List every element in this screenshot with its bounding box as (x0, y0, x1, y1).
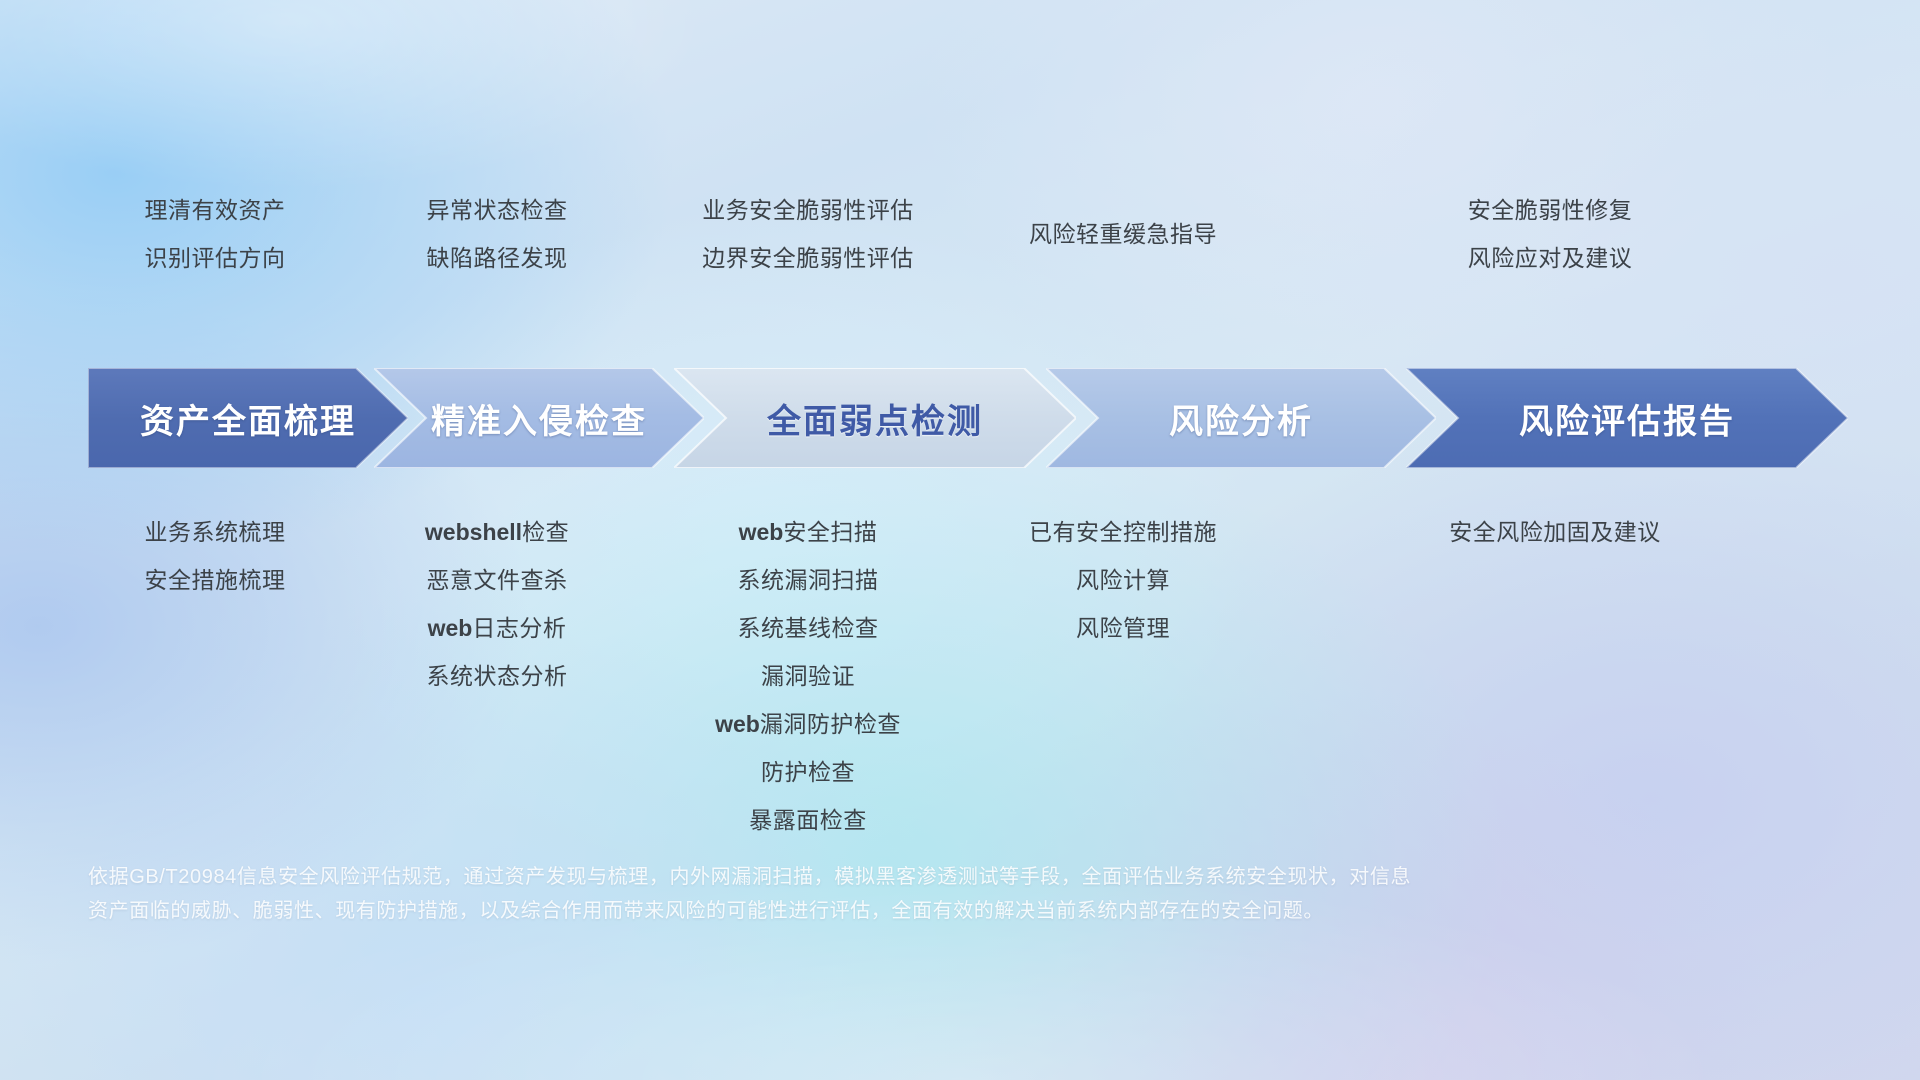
footer-line-1: 依据GB/T20984信息安全风险评估规范，通过资产发现与梳理，内外网漏洞扫描，… (88, 860, 1788, 894)
stage-4-activity-2: 风险计算 (938, 556, 1308, 604)
stage-5-outputs: 安全脆弱性修复 风险应对及建议 (1375, 186, 1725, 282)
process-ribbon: 资产全面梳理 精准入侵检查 (88, 368, 1848, 468)
stage-4-outputs: 风险轻重缓急指导 (938, 210, 1308, 258)
footer-line-2: 资产面临的威胁、脆弱性、现有防护措施，以及综合作用而带来风险的可能性进行评估，全… (88, 894, 1788, 928)
stage-3-activity-5: web漏洞防护检查 (608, 700, 1008, 748)
chevron-stage-3[interactable]: 全面弱点检测 (674, 368, 1076, 468)
stage-5-output-1: 安全脆弱性修复 (1375, 186, 1725, 234)
chevron-stage-1[interactable]: 资产全面梳理 (88, 368, 408, 468)
chevron-label-5: 风险评估报告 (1406, 394, 1848, 443)
chevron-label-3: 全面弱点检测 (674, 394, 1076, 443)
stage-5-output-2: 风险应对及建议 (1375, 234, 1725, 282)
stage-5-activities: 安全风险加固及建议 (1355, 508, 1755, 556)
stage-4-activities: 已有安全控制措施 风险计算 风险管理 (938, 508, 1308, 652)
chevron-label-1: 资产全面梳理 (88, 394, 408, 443)
stage-3-activity-7: 暴露面检查 (608, 796, 1008, 844)
footer-description: 依据GB/T20984信息安全风险评估规范，通过资产发现与梳理，内外网漏洞扫描，… (88, 860, 1788, 928)
stage-4-activity-1: 已有安全控制措施 (938, 508, 1308, 556)
chevron-stage-5[interactable]: 风险评估报告 (1406, 368, 1848, 468)
chevron-label-4: 风险分析 (1046, 394, 1436, 443)
chevron-label-2: 精准入侵检查 (374, 394, 704, 443)
stage-3-activity-6: 防护检查 (608, 748, 1008, 796)
stage-4-activity-3: 风险管理 (938, 604, 1308, 652)
diagram-canvas: 理清有效资产 识别评估方向 异常状态检查 缺陷路径发现 业务安全脆弱性评估 边界… (0, 0, 1920, 1080)
stage-4-output-1: 风险轻重缓急指导 (938, 210, 1308, 258)
stage-3-activity-4: 漏洞验证 (608, 652, 1008, 700)
chevron-stage-2[interactable]: 精准入侵检查 (374, 368, 704, 468)
chevron-stage-4[interactable]: 风险分析 (1046, 368, 1436, 468)
stage-5-activity-1: 安全风险加固及建议 (1355, 508, 1755, 556)
